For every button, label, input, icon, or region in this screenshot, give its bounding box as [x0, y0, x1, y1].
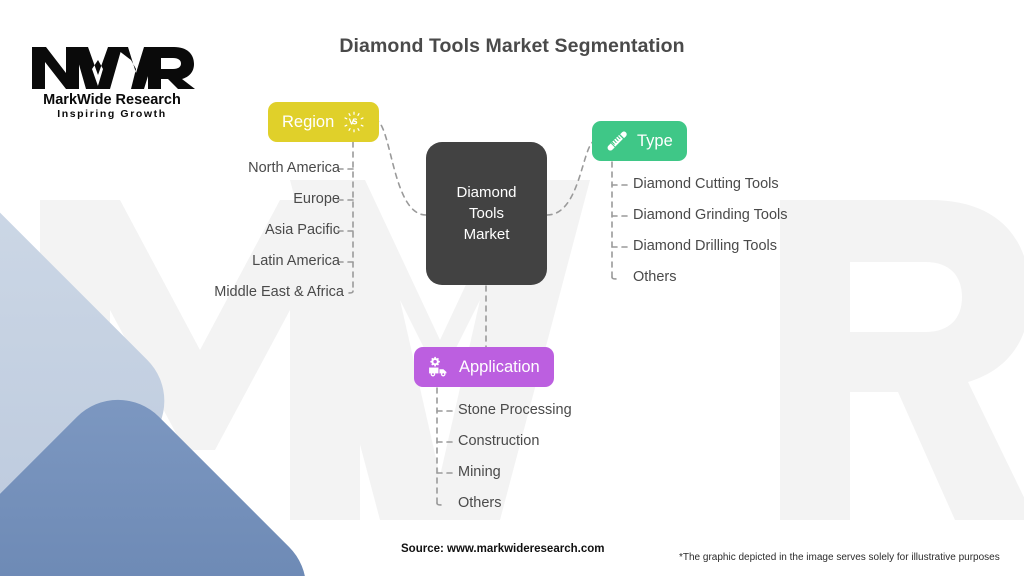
branch-badge-region[interactable]: Region — [268, 102, 379, 142]
leaf-type-3[interactable]: Others — [633, 269, 677, 285]
source-attribution[interactable]: Source: www.markwideresearch.com — [401, 543, 604, 555]
branch-label-type: Type — [637, 132, 673, 151]
branch-badge-type[interactable]: Type — [592, 121, 687, 161]
branch-label-region: Region — [282, 113, 334, 132]
branch-label-application: Application — [459, 358, 540, 377]
leaf-application-2[interactable]: Mining — [458, 464, 501, 480]
leaf-type-1[interactable]: Diamond Grinding Tools — [633, 207, 787, 223]
drill-bit-icon — [606, 130, 628, 152]
center-node[interactable]: Diamond Tools Market — [426, 142, 547, 285]
leaf-application-3[interactable]: Others — [458, 495, 502, 511]
leaf-application-1[interactable]: Construction — [458, 433, 539, 449]
center-node-label: Diamond Tools Market — [456, 182, 516, 245]
leaf-region-2[interactable]: Asia Pacific — [0, 222, 340, 238]
leaf-region-4[interactable]: Middle East & Africa — [0, 284, 344, 300]
leaf-region-3[interactable]: Latin America — [0, 253, 340, 269]
leaf-type-0[interactable]: Diamond Cutting Tools — [633, 176, 779, 192]
center-node-line-3: Market — [456, 224, 516, 245]
branch-badge-application[interactable]: Application — [414, 347, 554, 387]
disclaimer-note: *The graphic depicted in the image serve… — [679, 552, 1000, 563]
center-node-line-2: Tools — [456, 203, 516, 224]
leaf-type-2[interactable]: Diamond Drilling Tools — [633, 238, 777, 254]
leaf-region-1[interactable]: Europe — [0, 191, 340, 207]
leaf-region-0[interactable]: North America — [0, 160, 340, 176]
truck-gear-icon — [428, 356, 450, 378]
leaf-application-0[interactable]: Stone Processing — [458, 402, 572, 418]
vs-burst-icon — [343, 111, 365, 133]
center-node-line-1: Diamond — [456, 182, 516, 203]
infographic-canvas: MarkWide Research Inspiring Growth Diamo… — [0, 0, 1024, 576]
